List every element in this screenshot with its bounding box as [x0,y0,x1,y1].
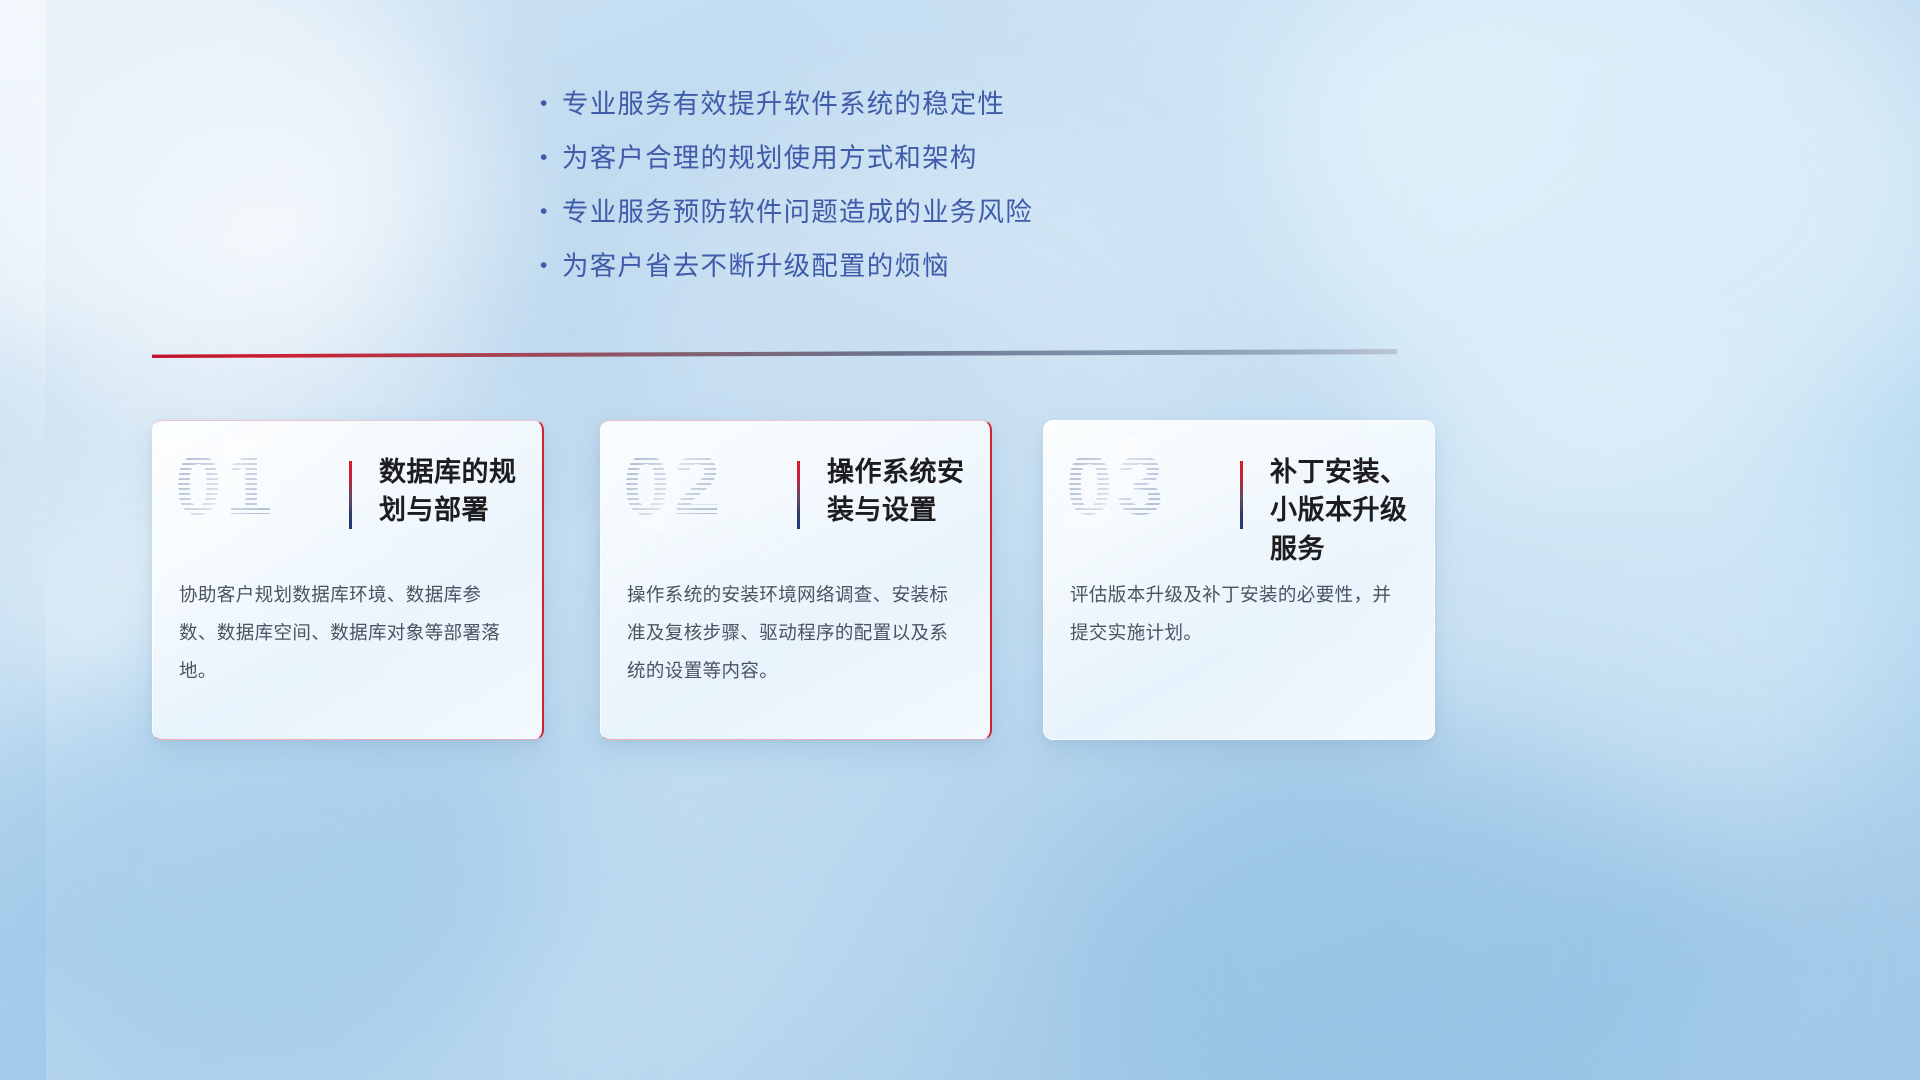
bullet-list: • 专业服务有效提升软件系统的稳定性 • 为客户合理的规划使用方式和架构 • 专… [540,88,1300,305]
left-edge-highlight [0,0,46,1080]
background-blob [1060,720,1740,1080]
background-blob [0,0,460,400]
bullet-dot-icon: • [540,93,562,114]
card-number: 03 [1066,443,1167,527]
title-accent-bar [349,461,352,529]
card-number-wrap: 03 [1044,421,1244,561]
title-accent-bar [1240,461,1243,529]
bullet-text: 为客户合理的规划使用方式和架构 [562,142,978,175]
list-item: • 专业服务有效提升软件系统的稳定性 [540,88,1300,121]
bullet-text: 专业服务预防软件问题造成的业务风险 [562,196,1033,229]
card-header: 03 补丁安装、小版本升级服务 [1044,421,1434,561]
service-card-01[interactable]: 01 数据库的规划与部署 协助客户规划数据库环境、数据库参数、数据库空间、数据库… [152,420,544,740]
title-accent-bar [797,461,800,529]
slide-canvas: • 专业服务有效提升软件系统的稳定性 • 为客户合理的规划使用方式和架构 • 专… [0,0,1920,1080]
bullet-dot-icon: • [540,147,562,168]
card-body-text: 协助客户规划数据库环境、数据库参数、数据库空间、数据库对象等部署落地。 [179,576,518,690]
bullet-text: 为客户省去不断升级配置的烦恼 [562,250,950,283]
background-blob [1280,0,1920,470]
list-item: • 专业服务预防软件问题造成的业务风险 [540,196,1300,229]
list-item: • 为客户省去不断升级配置的烦恼 [540,250,1300,283]
card-header: 02 操作系统安装与设置 [601,421,990,561]
service-card-02[interactable]: 02 操作系统安装与设置 操作系统的安装环境网络调查、安装标准及复核步骤、驱动程… [600,420,992,740]
card-number-wrap: 01 [153,421,353,561]
divider-gradient [152,349,1397,358]
card-title: 操作系统安装与设置 [827,453,979,530]
card-number: 02 [623,443,724,527]
card-title: 数据库的规划与部署 [379,453,531,530]
bullet-text: 专业服务有效提升软件系统的稳定性 [562,88,1005,121]
card-body-text: 评估版本升级及补丁安装的必要性，并提交实施计划。 [1070,576,1410,652]
card-title: 补丁安装、小版本升级服务 [1270,453,1422,568]
card-header: 01 数据库的规划与部署 [153,421,542,561]
section-divider [152,349,1397,358]
card-number-wrap: 02 [601,421,801,561]
card-number: 01 [175,443,276,527]
bullet-dot-icon: • [540,255,562,276]
card-body-text: 操作系统的安装环境网络调查、安装标准及复核步骤、驱动程序的配置以及系统的设置等内… [627,576,966,690]
service-card-03[interactable]: 03 补丁安装、小版本升级服务 评估版本升级及补丁安装的必要性，并提交实施计划。 [1043,420,1435,740]
list-item: • 为客户合理的规划使用方式和架构 [540,142,1300,175]
bullet-dot-icon: • [540,201,562,222]
